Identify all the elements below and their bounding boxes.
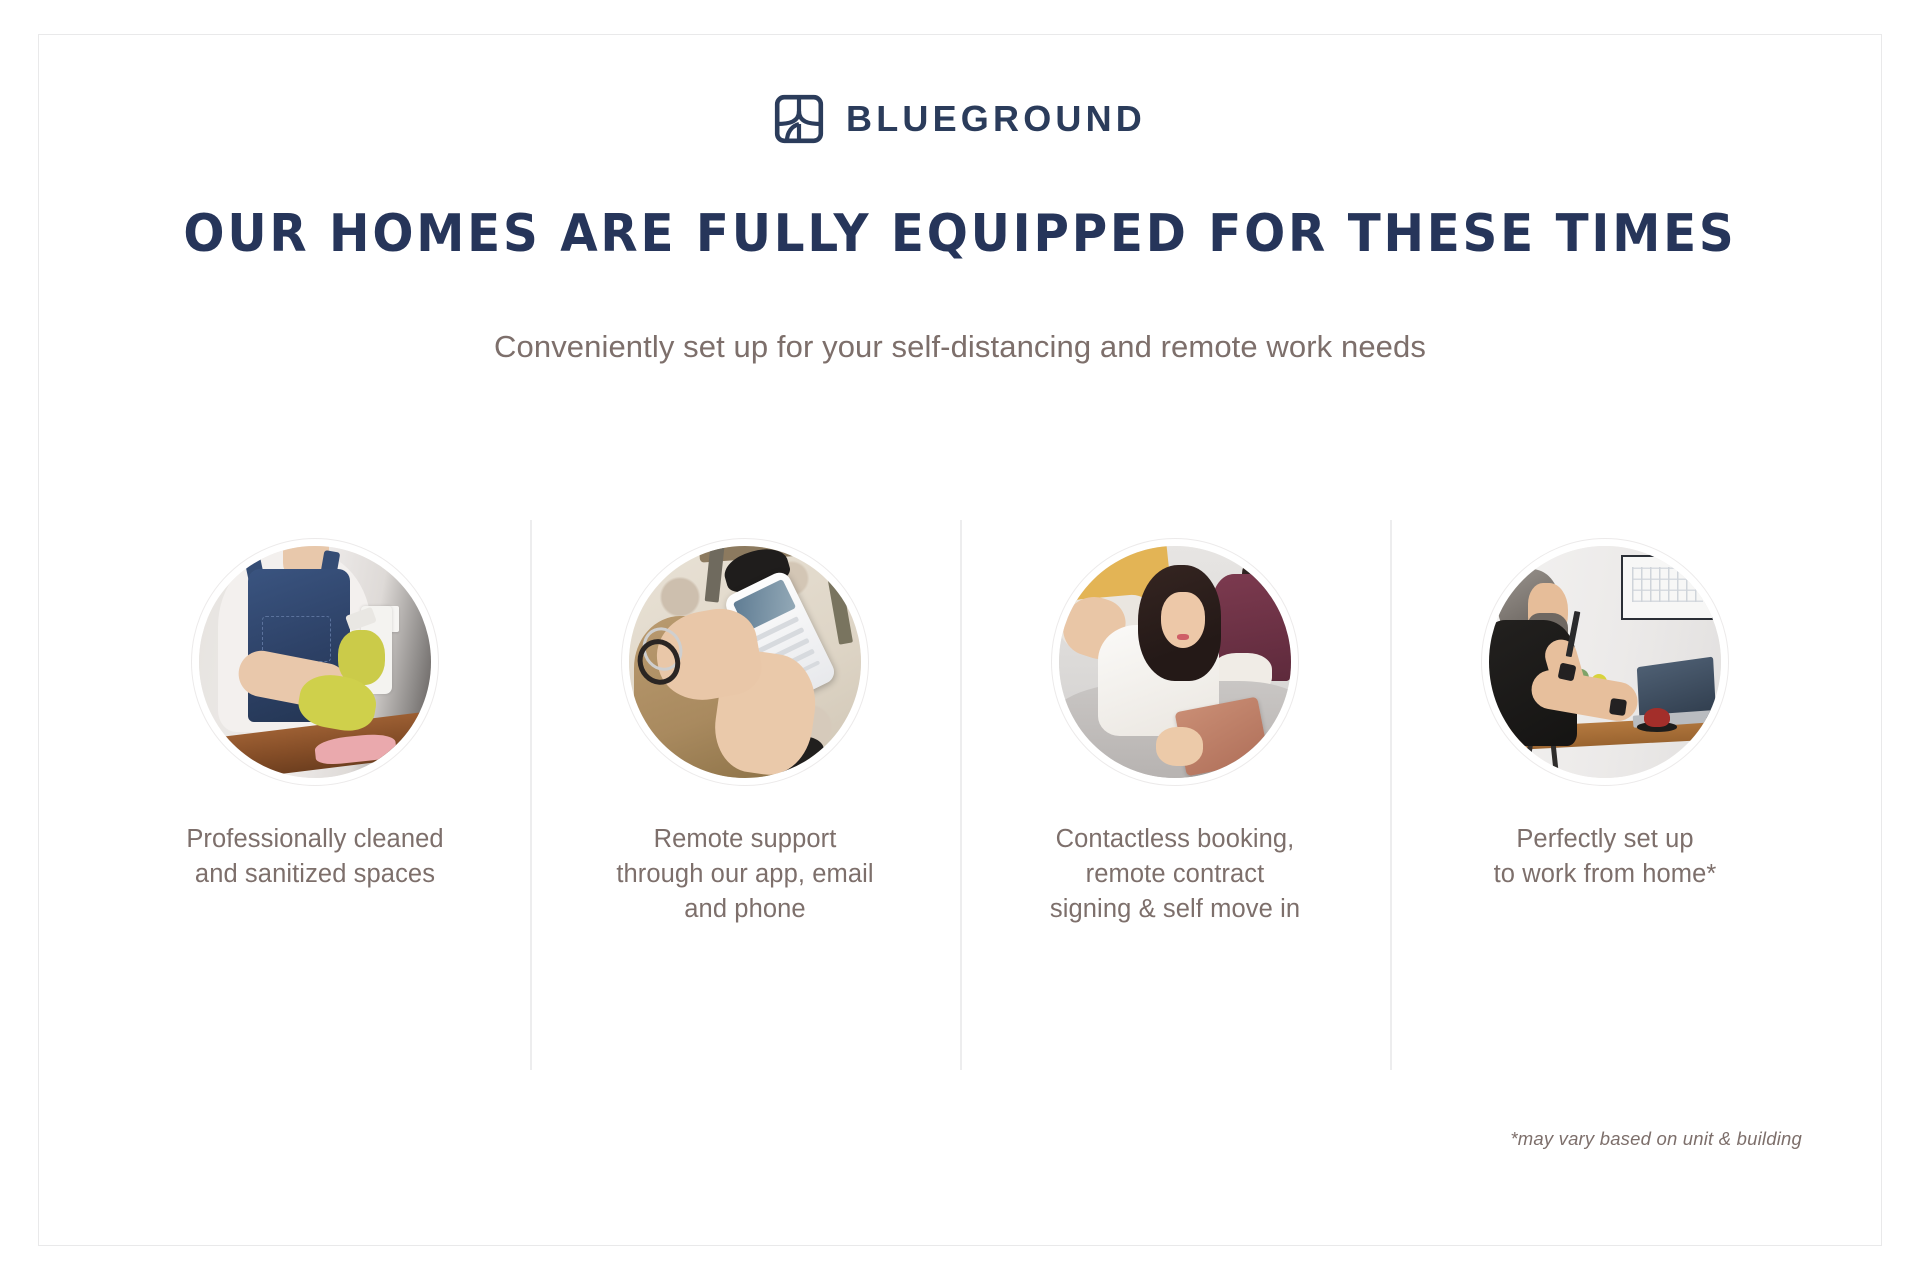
work-from-home-photo xyxy=(1489,546,1721,778)
feature-caption: Professionally cleaned and sanitized spa… xyxy=(186,822,443,892)
work-from-home-photo-ring xyxy=(1481,538,1729,786)
infographic-page: BLUEGROUND OUR HOMES ARE FULLY EQUIPPED … xyxy=(0,0,1920,1280)
brand-wordmark: BLUEGROUND xyxy=(846,101,1146,137)
contactless-booking-photo xyxy=(1059,546,1291,778)
contactless-booking-photo-ring xyxy=(1051,538,1299,786)
feature-column-cleaning: Professionally cleaned and sanitized spa… xyxy=(100,520,530,1070)
phone-support-photo-ring xyxy=(621,538,869,786)
page-title: OUR HOMES ARE FULLY EQUIPPED FOR THESE T… xyxy=(67,206,1853,263)
footnote-disclaimer: *may vary based on unit & building xyxy=(1510,1128,1802,1150)
cleaning-photo xyxy=(199,546,431,778)
feature-columns: Professionally cleaned and sanitized spa… xyxy=(100,520,1820,1070)
feature-caption: Contactless booking, remote contract sig… xyxy=(1050,822,1300,928)
cleaning-photo-ring xyxy=(191,538,439,786)
phone-support-photo xyxy=(629,546,861,778)
feature-column-contactless: Contactless booking, remote contract sig… xyxy=(960,520,1390,1070)
feature-column-remote-support: Remote support through our app, email an… xyxy=(530,520,960,1070)
feature-caption: Remote support through our app, email an… xyxy=(616,822,873,928)
feature-column-work-from-home: Perfectly set up to work from home* xyxy=(1390,520,1820,1070)
page-subtitle: Conveniently set up for your self-distan… xyxy=(0,328,1920,365)
feature-caption: Perfectly set up to work from home* xyxy=(1494,822,1717,892)
blueground-square-icon xyxy=(774,94,824,144)
brand-logo: BLUEGROUND xyxy=(0,94,1920,144)
